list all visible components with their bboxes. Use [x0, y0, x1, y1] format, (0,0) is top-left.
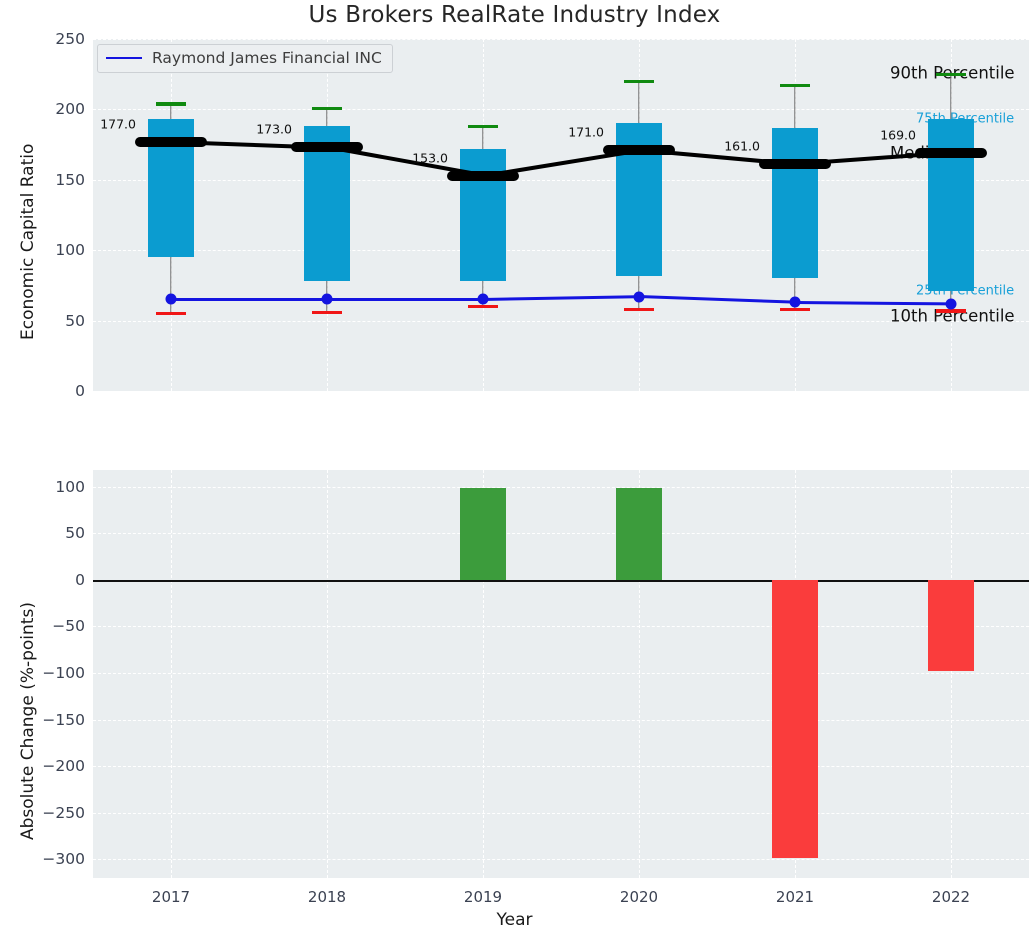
- company-data-point-2019: [478, 294, 489, 305]
- chart-title: Us Brokers RealRate Industry Index: [0, 2, 1029, 28]
- gridline-x: [171, 470, 172, 878]
- gridline-y: [93, 109, 1029, 110]
- percentile-box-2021: [772, 128, 818, 279]
- y-tick-label: 100: [7, 478, 85, 496]
- median-marker-2018: [291, 142, 363, 152]
- economic-capital-ratio-axis-label: Economic Capital Ratio: [18, 144, 38, 340]
- absolute-change-y-axis: −300−250−200−150−100−50050100: [0, 470, 85, 878]
- gridline-y: [93, 859, 1029, 860]
- company-data-point-2022: [946, 298, 957, 309]
- cap-90th-2018: [312, 107, 342, 110]
- median-marker-2020: [603, 145, 675, 155]
- y-tick-label: 250: [7, 30, 85, 48]
- gridline-y: [93, 321, 1029, 322]
- change-bar-2021: [772, 580, 818, 859]
- gridline-x: [951, 470, 952, 878]
- cap-90th-2020: [624, 80, 654, 83]
- x-tick-label-2019: 2019: [464, 888, 502, 906]
- absolute-change-plot-area: [93, 470, 1029, 878]
- x-tick-label-2022: 2022: [932, 888, 970, 906]
- legend-line-icon: [106, 57, 142, 59]
- median-marker-2021: [759, 159, 831, 169]
- gridline-y: [93, 39, 1029, 40]
- y-tick-label: 200: [7, 100, 85, 118]
- gridline-y: [93, 391, 1029, 392]
- change-bar-2019: [460, 488, 506, 580]
- gridline-y: [93, 487, 1029, 488]
- median-marker-2019: [447, 171, 519, 181]
- cap-10th-2017: [156, 312, 186, 315]
- change-bar-2022: [928, 580, 974, 671]
- x-tick-label-2021: 2021: [776, 888, 814, 906]
- change-bar-2020: [616, 488, 662, 580]
- percentile-box-2019: [460, 149, 506, 281]
- company-data-point-2017: [166, 294, 177, 305]
- economic-capital-ratio-y-axis: 050100150200250: [0, 39, 85, 391]
- y-tick-label: 0: [7, 382, 85, 400]
- median-value-label-2021: 161.0: [724, 139, 760, 154]
- cap-10th-2021: [780, 308, 810, 311]
- cap-90th-2017: [156, 102, 186, 105]
- absolute-change-axis-label: Absolute Change (%-points): [18, 602, 38, 840]
- cap-90th-2019: [468, 125, 498, 128]
- x-axis-label: Year: [0, 910, 1029, 930]
- y-tick-label: −300: [7, 850, 85, 868]
- economic-capital-ratio-plot-area: [93, 39, 1029, 391]
- median-value-label-2019: 153.0: [412, 150, 448, 165]
- gridline-y: [93, 813, 1029, 814]
- median-marker-2022: [915, 148, 987, 158]
- gridline-y: [93, 720, 1029, 721]
- cap-10th-2022: [936, 309, 966, 312]
- company-data-point-2021: [790, 297, 801, 308]
- gridline-y: [93, 250, 1029, 251]
- gridline-x: [327, 470, 328, 878]
- x-tick-label-2017: 2017: [152, 888, 190, 906]
- cap-10th-2020: [624, 308, 654, 311]
- median-value-label-2022: 169.0: [880, 128, 916, 143]
- x-tick-label-2018: 2018: [308, 888, 346, 906]
- median-value-label-2020: 171.0: [568, 125, 604, 140]
- y-tick-label: 50: [7, 524, 85, 542]
- company-line-segment: [171, 298, 327, 301]
- gridline-y: [93, 180, 1029, 181]
- median-value-label-2017: 177.0: [100, 116, 136, 131]
- percentile-box-2022: [928, 119, 974, 291]
- company-data-point-2018: [322, 294, 333, 305]
- cap-10th-2018: [312, 311, 342, 314]
- company-line-segment: [327, 298, 483, 301]
- cap-90th-2021: [780, 84, 810, 87]
- chart-legend[interactable]: Raymond James Financial INC: [97, 44, 393, 73]
- median-marker-2017: [135, 137, 207, 147]
- zero-baseline: [93, 580, 1029, 582]
- company-data-point-2020: [634, 291, 645, 302]
- gridline-y: [93, 766, 1029, 767]
- median-value-label-2018: 173.0: [256, 122, 292, 137]
- gridline-y: [93, 533, 1029, 534]
- gridline-y: [93, 626, 1029, 627]
- cap-10th-2019: [468, 305, 498, 308]
- cap-90th-2022: [936, 73, 966, 76]
- gridline-y: [93, 673, 1029, 674]
- y-tick-label: 0: [7, 571, 85, 589]
- x-tick-label-2020: 2020: [620, 888, 658, 906]
- legend-label-raymond-james: Raymond James Financial INC: [152, 49, 382, 67]
- chart-figure: Us Brokers RealRate Industry Index 05010…: [0, 0, 1029, 942]
